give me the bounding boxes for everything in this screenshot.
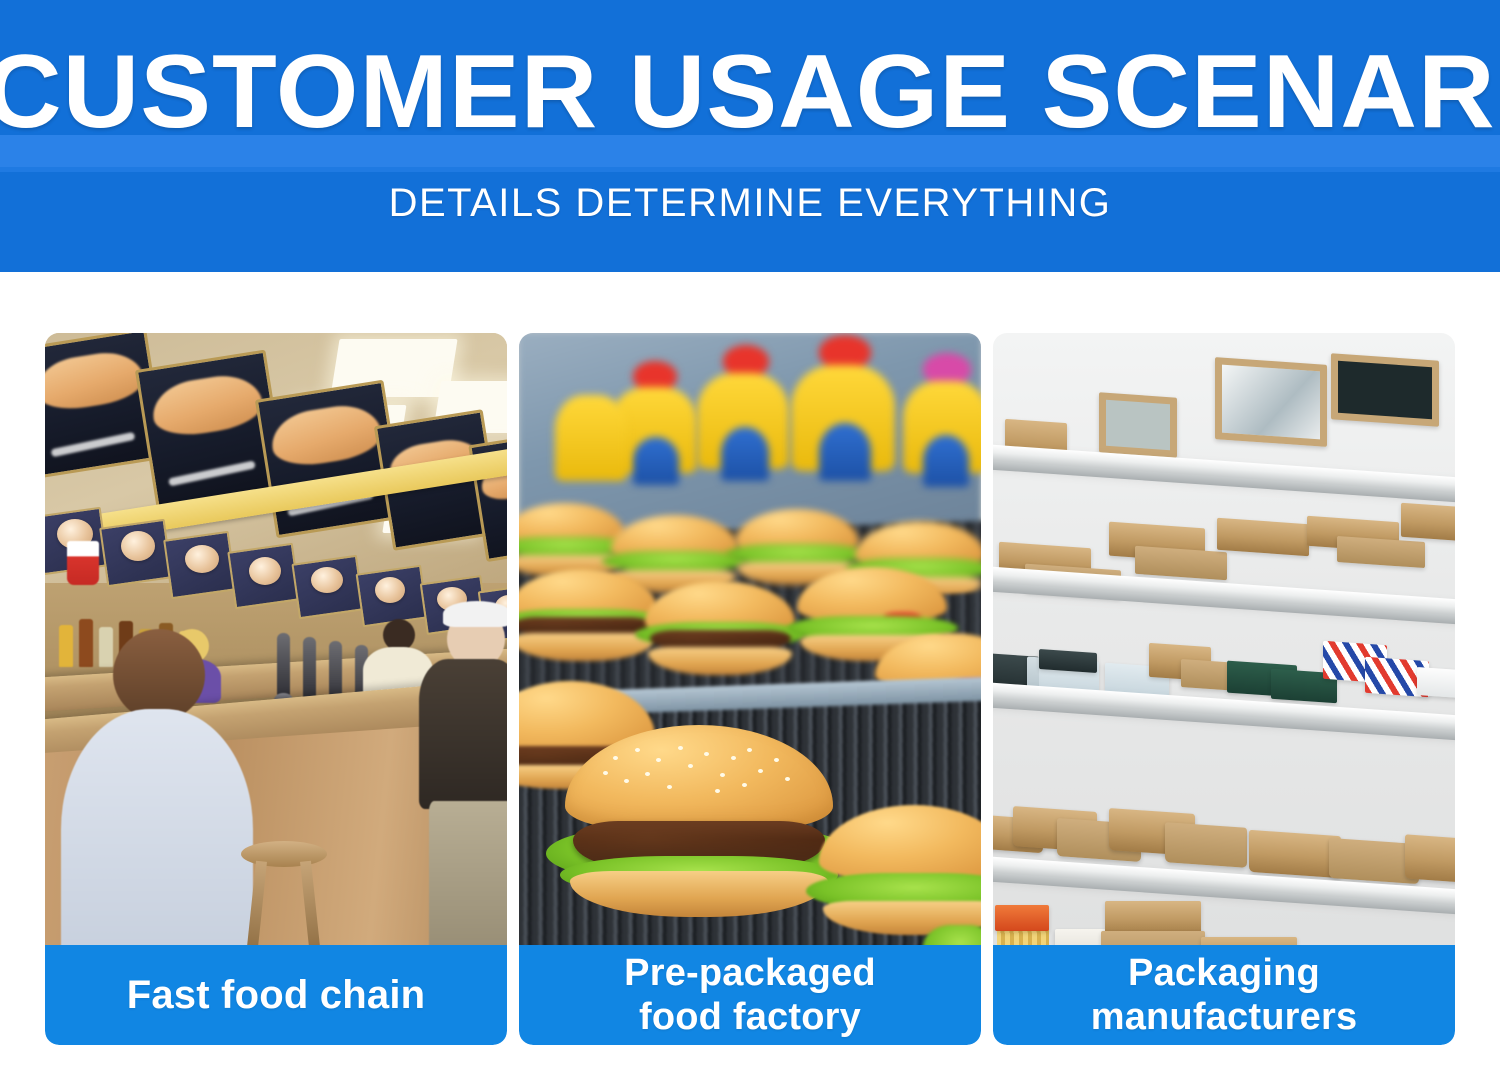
worker-shirt [555, 395, 627, 481]
photo-packaging-manufacturers [993, 333, 1455, 969]
paper-box-lid [1099, 392, 1177, 457]
caption-bar-fast-food-chain: Fast food chain [45, 945, 507, 1045]
scenario-card-pre-packaged-food-factory[interactable]: Pre-packaged food factory [519, 333, 981, 1045]
red-carton [995, 905, 1049, 931]
window-box [1215, 357, 1327, 447]
caption-bar-packaging-manufacturers: Packaging manufacturers [993, 945, 1455, 1045]
factory-worker [791, 337, 895, 487]
scenario-panels: Fast food chain [45, 333, 1456, 1045]
photo-fast-food-chain [45, 333, 507, 969]
beer-tap [277, 633, 290, 697]
page-subtitle: DETAILS DETERMINE EVERYTHING [0, 181, 1500, 225]
person-trousers [429, 801, 507, 969]
caption-label: Pre-packaged food factory [624, 951, 876, 1039]
worker-apron [923, 435, 969, 487]
header-light-band-edge [0, 167, 1500, 172]
menu-item-icon [121, 531, 155, 561]
caption-label: Fast food chain [127, 973, 426, 1017]
photo-pre-packaged-food-factory [519, 333, 981, 969]
person-head [113, 629, 205, 721]
factory-worker [697, 347, 789, 485]
menu-item-icon [375, 577, 405, 603]
scenario-card-fast-food-chain[interactable]: Fast food chain [45, 333, 507, 1045]
scenario-card-packaging-manufacturers[interactable]: Packaging manufacturers [993, 333, 1455, 1045]
burger [519, 569, 657, 661]
clamshell-box [1337, 536, 1425, 568]
menu-item-icon [311, 567, 343, 593]
worker-apron [721, 427, 769, 481]
stool-leg [246, 861, 267, 958]
worker-apron [819, 423, 871, 481]
menu-item-icon [185, 545, 219, 573]
factory-worker [903, 355, 981, 489]
burger-hero [565, 725, 833, 917]
person-torso [61, 709, 253, 969]
caption-bar-pre-packaged-food-factory: Pre-packaged food factory [519, 945, 981, 1045]
menu-sandwich-photo [148, 370, 266, 440]
burger [645, 581, 795, 675]
person-cap [443, 601, 507, 627]
burger-bun-top [819, 805, 981, 878]
burger [819, 805, 981, 935]
burger-bun-bottom [570, 871, 827, 917]
menu-handwriting [51, 432, 136, 458]
kraft-tray [1165, 822, 1247, 868]
burger-bun-top [797, 567, 947, 620]
menu-sandwich-photo [45, 347, 146, 414]
burger-bun-bottom [519, 633, 654, 661]
menu-sandwich-photo [268, 400, 384, 470]
stool-leg [300, 861, 321, 958]
burger-patty [650, 630, 791, 649]
kraft-tray [1249, 830, 1341, 878]
window-box [1331, 353, 1439, 427]
burger-bun-bottom [648, 647, 792, 675]
burger-lettuce [726, 544, 867, 564]
caption-label: Packaging manufacturers [1091, 951, 1358, 1039]
drink-cup [67, 541, 99, 585]
burger-bun-top [565, 725, 833, 829]
header-banner: CUSTOMER USAGE SCENARIOS DETAILS DETERMI… [0, 0, 1500, 272]
standing-customer [417, 601, 507, 969]
page-title: CUSTOMER USAGE SCENARIOS [0, 36, 1500, 148]
seated-customer [65, 629, 245, 969]
kraft-lunch-box [1105, 901, 1201, 935]
white-tray [1417, 667, 1455, 699]
beer-tap [303, 637, 316, 701]
person-jacket [419, 659, 507, 809]
menu-handwriting [168, 461, 256, 487]
kraft-tray [1405, 834, 1455, 883]
stool-seat [241, 841, 327, 867]
worker-apron [633, 437, 679, 485]
menu-item-icon [249, 557, 281, 585]
clamshell-box [1135, 546, 1227, 580]
clamshell-box [1401, 503, 1455, 542]
black-tray [1039, 649, 1097, 673]
bar-stool [241, 841, 327, 959]
worker-cap [819, 335, 871, 369]
clamshell-box [1217, 518, 1309, 556]
factory-worker [555, 379, 627, 489]
